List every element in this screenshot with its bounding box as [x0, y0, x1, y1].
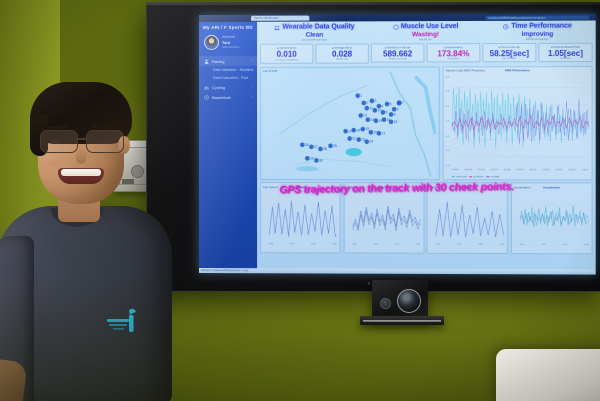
legend-swatch	[469, 176, 472, 177]
eyeglass-bridge	[76, 138, 86, 140]
sidebar-item-basketball-label: Basketball	[212, 95, 230, 100]
map-canvas[interactable]: 1 2 3 4 5 6 7 8 9 10	[264, 71, 436, 176]
svg-text:4: 4	[381, 104, 383, 108]
sidebar-item-basketball[interactable]: Basketball ›	[199, 92, 257, 102]
gear-icon	[204, 95, 209, 100]
svg-text:16: 16	[394, 119, 398, 123]
kpi-cell-value: 58.25[sec]	[490, 49, 529, 58]
legend-label: measured	[456, 176, 467, 178]
kpi-title-time: Time Performance	[503, 23, 572, 30]
kpi-cells-time: ▴ Time in the lap 58.25[sec] lap time to…	[482, 42, 592, 62]
speed-chart-svg	[269, 192, 337, 241]
kpi-cell-exertion: ▴ Exertion in the lab 589.662 integral o…	[371, 43, 425, 63]
svg-text:24: 24	[369, 139, 373, 143]
kpi-row: Wearable Data Quality Clean last network…	[260, 23, 593, 64]
kpi-cell-foot: all time avg	[336, 58, 348, 60]
x-tick: 0:00	[520, 243, 524, 247]
speed-chart-canvas	[269, 192, 337, 241]
svg-text:25: 25	[333, 143, 337, 147]
panel-row-main: Lap & Drift 1	[260, 66, 593, 180]
x-tick: 0:02	[290, 243, 294, 247]
map-svg: 1 2 3 4 5 6 7 8 9 10	[264, 71, 436, 176]
kpi-cell-value: 589.662	[383, 49, 412, 58]
x-tick: 0:04:40	[542, 169, 549, 173]
x-tick: 0:04	[479, 243, 483, 247]
legend-swatch	[452, 176, 455, 177]
x-tick: 0:02	[541, 244, 545, 248]
acceleration-x-axis: 0:00 0:02 0:04 0:06	[520, 243, 589, 247]
kpi-title-label: Muscle Use Level	[401, 23, 459, 30]
kpi-cell-current-error: ▴ Current Error 0.010 ▴ is model consist…	[260, 43, 313, 64]
emg-chart-svg	[452, 76, 589, 168]
kpi-cell-value: 0.010	[277, 49, 297, 58]
cadence-chart-canvas	[352, 192, 420, 241]
svg-text:23: 23	[361, 137, 365, 141]
panel-emg: Muscle Load EMG Prediction EMG Performan…	[443, 66, 593, 180]
person-teeth	[61, 169, 101, 176]
person-nose	[76, 148, 86, 164]
avatar	[204, 35, 219, 50]
svg-text:28: 28	[323, 146, 327, 150]
svg-text:29: 29	[310, 156, 314, 160]
legend-label: residual	[491, 176, 500, 178]
x-tick: 0:06:00	[568, 169, 575, 173]
kpi-status-wearable: Clean	[306, 32, 324, 39]
emg-legend: measured predicted residual	[452, 176, 499, 178]
kpi-cell-checkpoint-time: ▴ Time at Check Point 1.05[sec] mean spl…	[538, 42, 592, 62]
kpi-cell-lap-time: ▴ Time in the lap 58.25[sec] lap time to…	[482, 42, 536, 62]
svg-text:18: 18	[356, 128, 360, 132]
x-tick: 0:00:40	[465, 169, 472, 173]
chevron-right-icon: ›	[252, 59, 253, 63]
kpi-cell-foot: integral over load	[389, 58, 407, 60]
eyeglass-lens-left	[40, 130, 78, 153]
kpi-status-sub-muscle: last 60 sec	[419, 38, 432, 41]
stride-x-axis: 0:00 0:02 0:04 0:06	[436, 243, 504, 247]
browser-status-strip: Waiting for localhost:8050/dashboard · r…	[199, 268, 596, 275]
sidebar-nav: Racing › Data Validation - Realtime Data…	[199, 56, 257, 103]
x-tick: 0:04:00	[529, 169, 536, 173]
svg-text:12: 12	[363, 113, 367, 117]
svg-text:21: 21	[381, 131, 385, 135]
sidebar-item-cycling-label: Cycling	[212, 85, 225, 90]
acceleration-chart-svg	[520, 192, 589, 242]
x-tick: 0:06	[333, 243, 337, 247]
x-tick: 0:06:40	[581, 169, 588, 173]
panel-gps-map[interactable]: Lap & Drift 1	[260, 66, 440, 180]
clock-icon	[503, 23, 509, 29]
kpi-cell-foot: ▴ is model consistency	[275, 58, 298, 61]
table-edge	[496, 349, 600, 401]
x-tick: 0:00	[436, 243, 440, 247]
dashboard-sidebar: My ARI / F Sports BD Welcome Toru Admini…	[199, 22, 257, 268]
chevron-right-icon: ›	[252, 95, 253, 99]
kpi-title-label: Time Performance	[511, 23, 572, 30]
sidebar-item-racing[interactable]: Racing ›	[199, 56, 257, 66]
svg-text:27: 27	[314, 144, 318, 148]
tv-screen: Sports Dashboard localhost:8050/dashboar…	[199, 13, 596, 274]
speed-x-axis: 0:00 0:02 0:04 0:06	[269, 243, 337, 247]
browser-address-bar[interactable]: localhost:8050/dashboard/sports-analytic…	[485, 15, 589, 19]
kpi-cell-foot: vs baseline	[448, 58, 460, 60]
x-tick: 0:02	[457, 243, 461, 247]
profile-greeting: Welcome	[222, 36, 240, 39]
svg-text:5: 5	[390, 101, 392, 105]
kpi-cell-foot: lap time total	[503, 58, 516, 60]
svg-text:3: 3	[374, 98, 376, 102]
x-tick: 0:00	[352, 243, 356, 247]
panel-subtitle-emg: EMG Performance	[505, 68, 530, 72]
emg-chart-canvas	[452, 76, 589, 168]
x-tick: 0:00	[269, 243, 273, 247]
kpi-cell-value: 0.028	[332, 49, 352, 58]
legend-label: predicted	[474, 176, 484, 178]
svg-text:2: 2	[366, 100, 368, 104]
dashboard-main: Wearable Data Quality Clean last network…	[257, 20, 596, 269]
kpi-group-muscle-use-level: Muscle Use Level Wasting! last 60 sec ▴ …	[371, 23, 480, 64]
kpi-title-label: Wearable Data Quality	[282, 23, 354, 30]
x-tick: 0:02:40	[504, 169, 511, 173]
svg-text:7: 7	[402, 100, 404, 104]
browser-tab[interactable]: Sports Dashboard	[251, 16, 309, 21]
stride-chart-svg	[436, 192, 504, 242]
svg-text:11: 11	[369, 106, 373, 110]
svg-text:30: 30	[319, 158, 323, 162]
svg-text:10: 10	[377, 108, 381, 112]
kpi-cells-muscle: ▴ Exertion in the lab 589.662 integral o…	[371, 43, 480, 63]
eyeglass-lens-right	[86, 130, 124, 153]
kpi-cell-average-error: ▴ Average Error 0.028 all time avg	[315, 43, 368, 64]
legend-item: residual	[487, 176, 500, 178]
x-tick: 0:04	[311, 243, 315, 247]
kpi-status-sub-time: last lap comparison	[526, 38, 549, 41]
x-tick: 0:01:20	[478, 169, 485, 173]
room-scene: ●●● Sports Dashboard localhost:8050/dash…	[0, 0, 600, 401]
svg-text:8: 8	[394, 112, 396, 116]
kpi-status-muscle: Wasting!	[412, 31, 439, 38]
x-tick: 0:06	[584, 244, 588, 248]
x-tick: 0:02:00	[491, 169, 498, 173]
sidebar-brand: My ARI / F Sports BD	[199, 22, 257, 32]
kpi-cell-value: 1.05[sec]	[548, 48, 583, 57]
chevron-right-icon: ›	[252, 85, 253, 89]
sidebar-profile[interactable]: Welcome Toru Administrator	[199, 32, 257, 54]
x-tick: 0:06	[416, 243, 420, 247]
kpi-cell-acceleration: ▴ Acceleration 173.84% vs baseline	[427, 43, 481, 63]
kpi-cell-value: 173.84%	[437, 49, 469, 58]
x-tick: 0:02	[374, 243, 378, 247]
sensor-icon	[274, 24, 280, 30]
emg-x-axis: 0:00:00 0:00:40 0:01:20 0:02:00 0:02:40 …	[452, 169, 589, 173]
kpi-status-sub-wearable: last network transition	[302, 39, 327, 42]
legend-item: predicted	[469, 176, 483, 178]
sidebar-subitem-data-evaluation[interactable]: Data Evaluation - Post	[199, 74, 257, 82]
user-icon	[204, 59, 209, 64]
svg-text:1: 1	[360, 93, 362, 97]
tv-bezel-highlight	[146, 2, 600, 5]
x-tick: 0:00:00	[452, 169, 459, 173]
circle-icon	[393, 24, 399, 30]
person-smile	[58, 168, 104, 184]
television: ●●● Sports Dashboard localhost:8050/dash…	[146, 2, 600, 292]
panel-acceleration: Acceleration Acceleration 0:00 0:02	[511, 182, 593, 254]
kpi-group-time-performance: Time Performance improving last lap comp…	[482, 23, 592, 64]
sidebar-subitem-data-validation[interactable]: Data Validation - Realtime	[199, 66, 257, 74]
legend-item: measured	[452, 176, 467, 178]
sidebar-item-cycling[interactable]: Cycling ›	[199, 82, 257, 92]
kpi-title-muscle: Muscle Use Level	[393, 23, 459, 30]
x-tick: 0:05:20	[555, 169, 562, 173]
svg-text:19: 19	[365, 127, 369, 131]
sidebar-item-racing-label: Racing	[212, 59, 224, 64]
svg-text:9: 9	[386, 110, 388, 114]
x-tick: 0:04	[395, 243, 399, 247]
cadence-chart-svg	[352, 192, 420, 241]
kpi-cells-wearable: ▴ Current Error 0.010 ▴ is model consist…	[260, 43, 369, 64]
x-tick: 0:03:20	[516, 169, 523, 173]
cadence-x-axis: 0:00 0:02 0:04 0:06	[352, 243, 420, 247]
kpi-title-wearable: Wearable Data Quality	[274, 23, 354, 30]
svg-text:22: 22	[352, 136, 356, 140]
profile-text: Welcome Toru Administrator	[222, 36, 240, 49]
profile-role: Administrator	[222, 45, 240, 48]
stride-chart-canvas	[436, 192, 504, 242]
svg-text:6: 6	[397, 107, 399, 111]
bike-icon	[204, 85, 209, 90]
legend-swatch	[487, 176, 490, 177]
kpi-cell-foot: mean split	[560, 58, 571, 60]
svg-text:26: 26	[305, 142, 309, 146]
x-tick: 0:06	[500, 243, 504, 247]
x-tick: 0:04	[563, 244, 567, 248]
acceleration-chart-canvas	[520, 192, 589, 242]
kpi-group-wearable-data-quality: Wearable Data Quality Clean last network…	[260, 23, 369, 63]
